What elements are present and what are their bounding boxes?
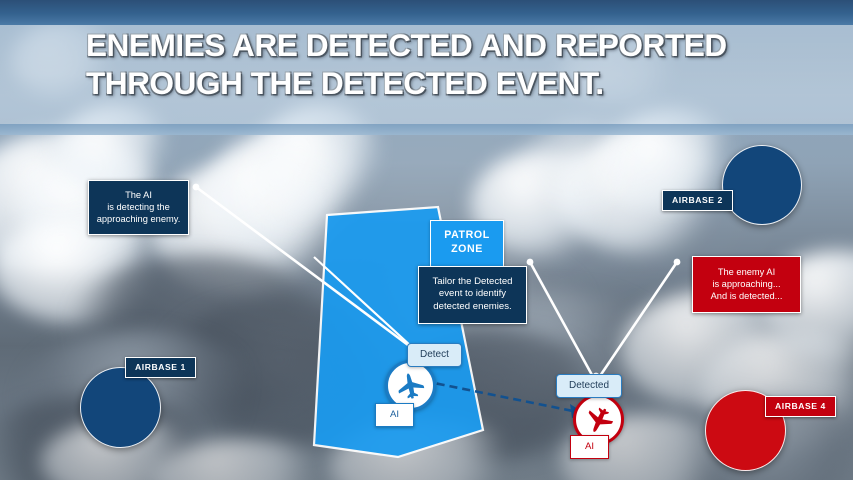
callout-enemy-line-2: is approaching...: [698, 278, 795, 290]
slide-title: ENEMIES ARE DETECTED AND REPORTED THROUG…: [86, 27, 826, 103]
enemy-state-chip[interactable]: Detected: [556, 374, 622, 398]
fighter-jet-icon: [395, 370, 427, 402]
slide-title-line-2: THROUGH THE DETECTED EVENT.: [86, 65, 826, 103]
enemy-unit-name-plate: AI: [570, 435, 609, 459]
callout-ai-detecting: The AI is detecting the approaching enem…: [88, 180, 189, 235]
callout-tailor-detected-event: Tailor the Detected event to identify de…: [418, 266, 527, 324]
airbase-1-label: AIRBASE 1: [125, 357, 196, 378]
friendly-state-chip[interactable]: Detect: [407, 343, 462, 367]
callout-ai-detecting-line-3: approaching enemy.: [94, 213, 183, 225]
slide-title-line-1: ENEMIES ARE DETECTED AND REPORTED: [86, 27, 727, 63]
slide-canvas: ENEMIES ARE DETECTED AND REPORTED THROUG…: [0, 0, 853, 480]
fighter-jet-icon: [583, 404, 615, 436]
callout-ai-detecting-line-1: The AI: [94, 189, 183, 201]
airbase-2-label: AIRBASE 2: [662, 190, 733, 211]
friendly-unit-name-plate: AI: [375, 403, 414, 427]
title-band-top-edge: [0, 0, 853, 25]
airbase-4-label: AIRBASE 4: [765, 396, 836, 417]
patrol-zone-label-line-1: PATROL: [435, 229, 499, 243]
airbase-2-marker: [722, 145, 802, 225]
callout-enemy-line-1: The enemy AI: [698, 266, 795, 278]
patrol-zone-label: PATROL ZONE: [430, 220, 504, 267]
title-band-bottom-edge: [0, 124, 853, 135]
callout-tailor-line-1: Tailor the Detected: [425, 276, 520, 288]
patrol-zone-label-line-2: ZONE: [435, 243, 499, 257]
callout-tailor-line-2: event to identify: [425, 288, 520, 300]
airbase-1-marker: [80, 367, 161, 448]
callout-enemy-line-3: And is detected...: [698, 290, 795, 302]
callout-enemy-approaching: The enemy AI is approaching... And is de…: [692, 256, 801, 313]
callout-ai-detecting-line-2: is detecting the: [94, 201, 183, 213]
callout-tailor-line-3: detected enemies.: [425, 301, 520, 313]
